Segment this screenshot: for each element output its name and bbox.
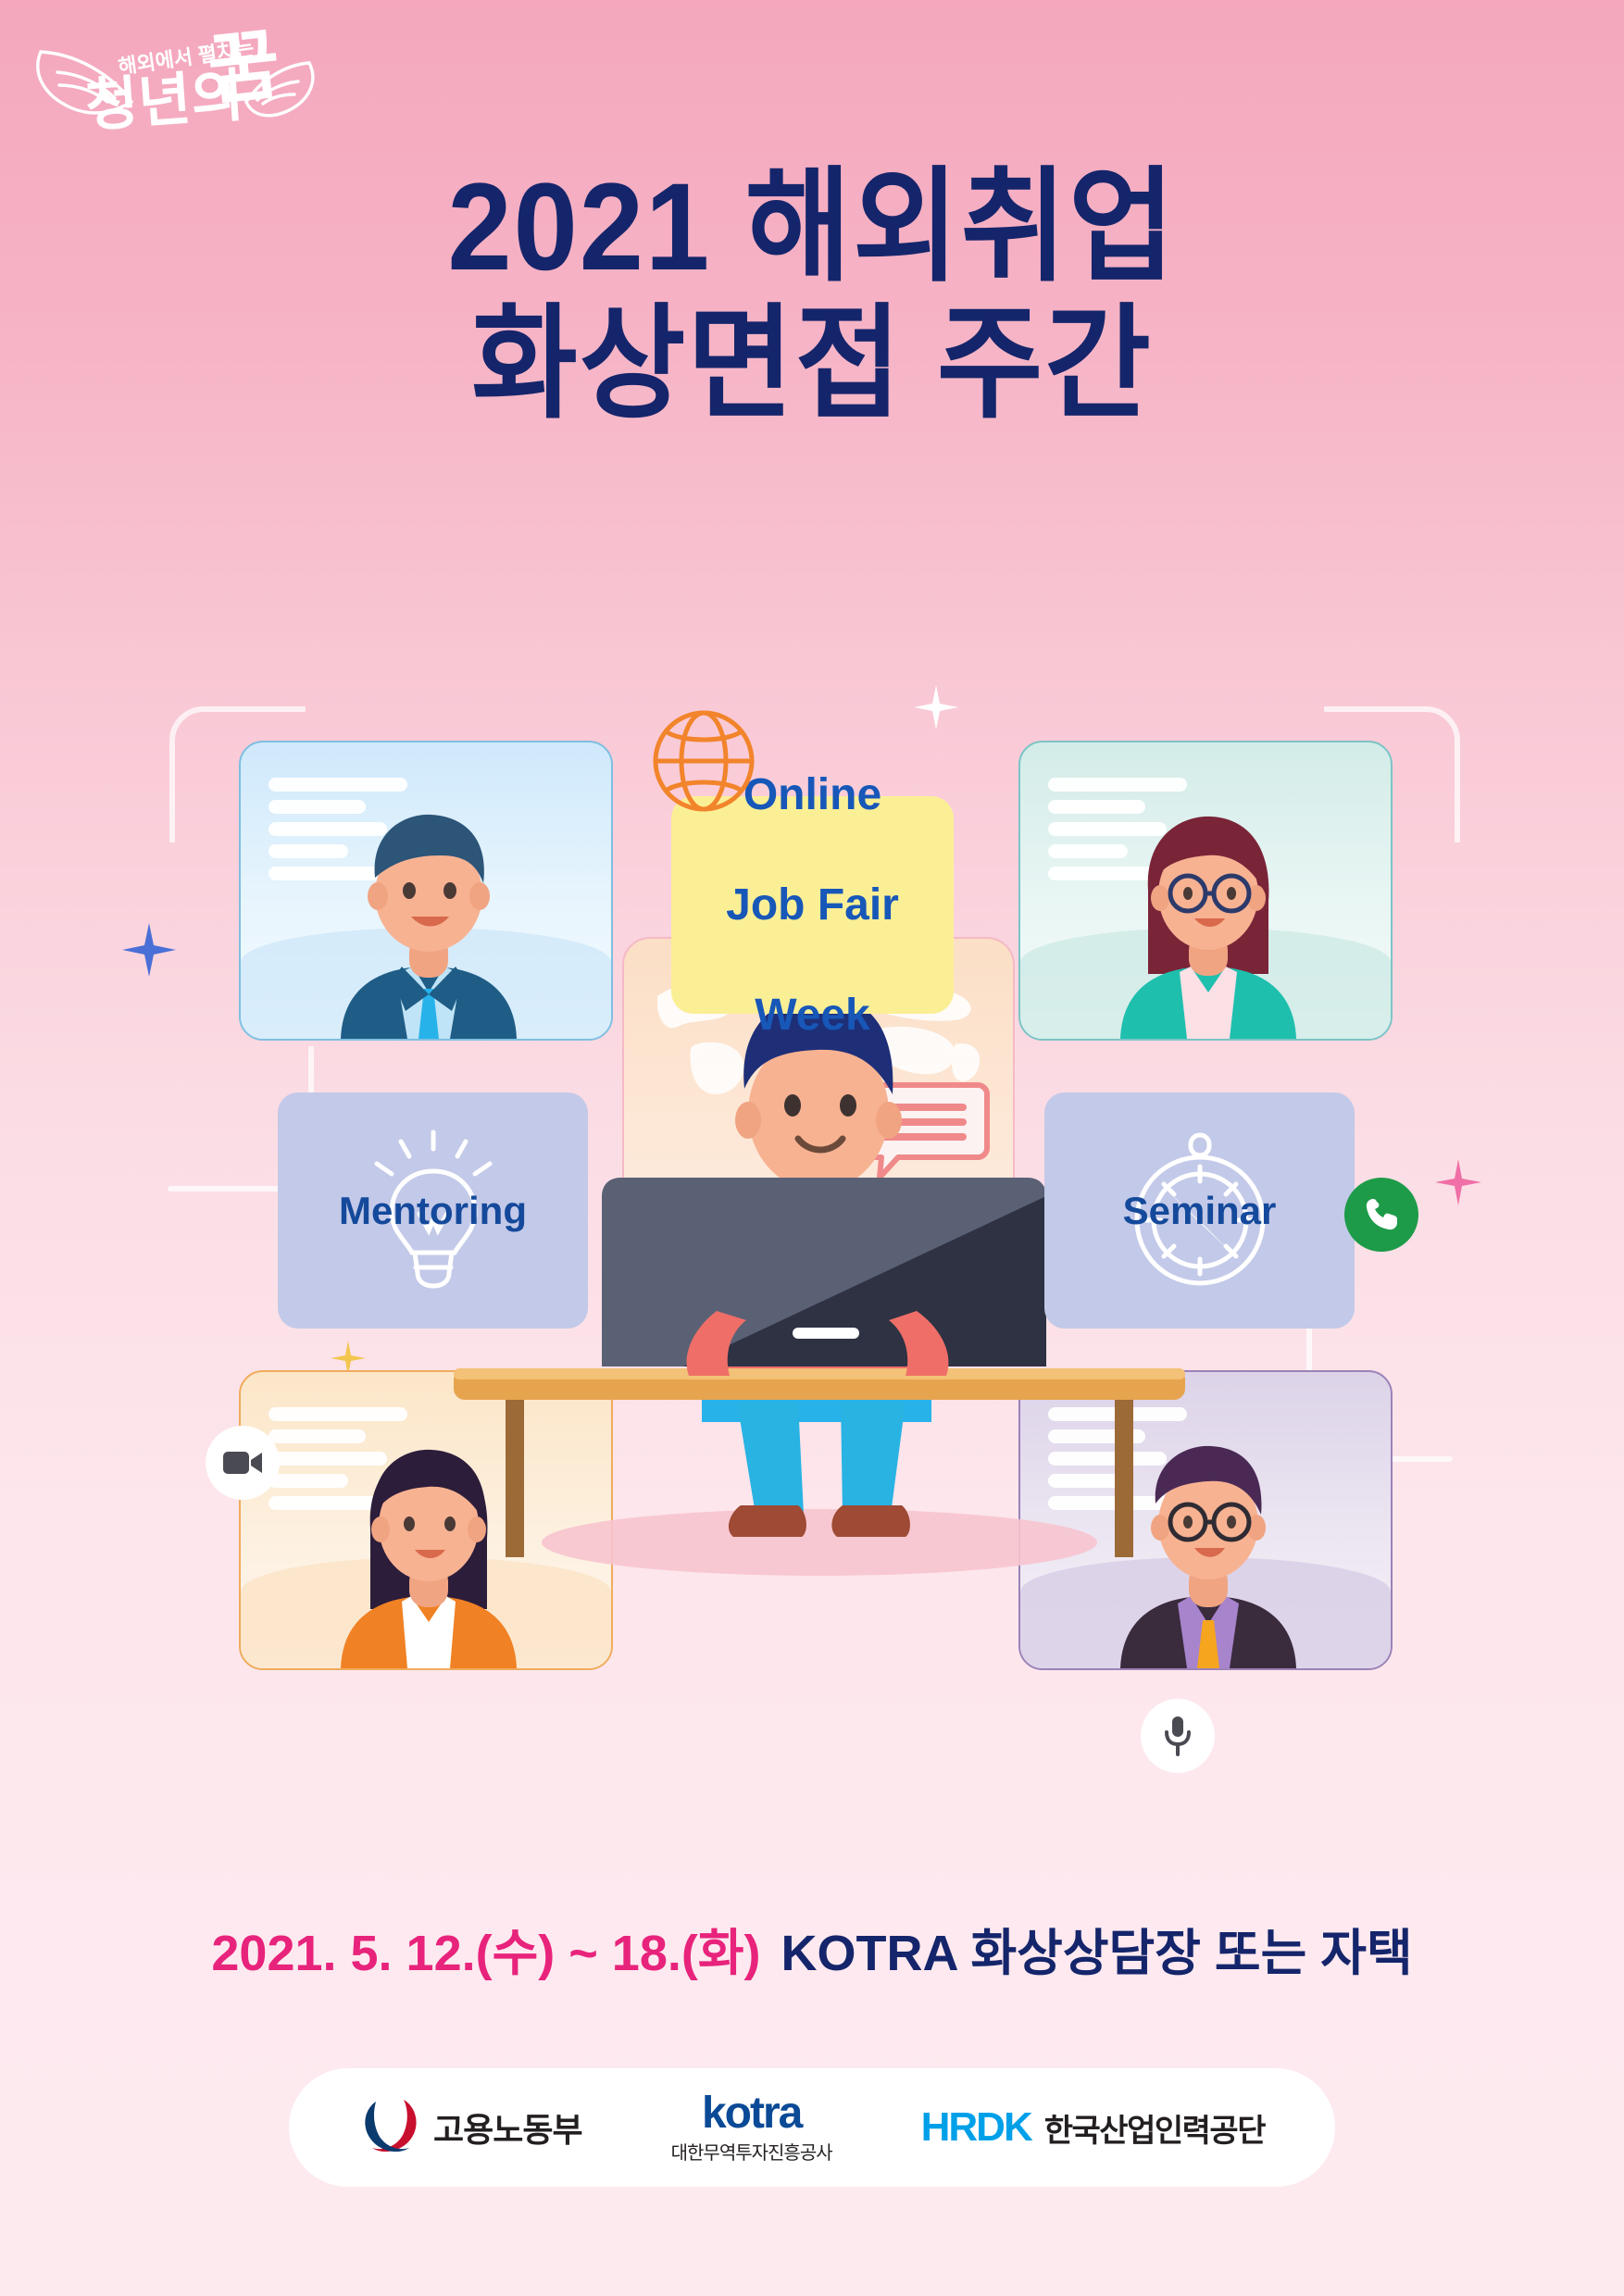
- online-job-fair-label: Online Job Fair Week: [671, 796, 954, 1014]
- event-info-line: 2021. 5. 12.(수) ~ 18.(화)KOTRA 화상상담장 또는 자…: [0, 1912, 1624, 1985]
- video-camera-icon: [221, 1448, 264, 1478]
- poster-root: 해외에서 펼치는 꿈 청년의 해외에서 펼치는 청년의 꿈 2021 해외취업 …: [0, 0, 1624, 2296]
- microphone-icon: [1162, 1714, 1193, 1758]
- globe-icon: [648, 705, 759, 817]
- brand-name: 청년의: [83, 64, 246, 139]
- feature-label-seminar: Seminar: [1044, 1189, 1355, 1233]
- logo-hrdk-label: 한국산업인력공단: [1044, 2105, 1265, 2151]
- logo-kotra: kotra 대한무역투자진흥공사: [671, 2091, 832, 2165]
- sparkle-icon-left: [120, 921, 178, 979]
- feature-card-seminar[interactable]: Seminar: [1044, 1092, 1355, 1329]
- ojf-line-3: Week: [726, 988, 899, 1043]
- logo-molab-label: 고용노동부: [433, 2103, 582, 2152]
- title-line-2: 화상면접 주간: [56, 299, 1567, 430]
- taegeuk-icon: [359, 2094, 420, 2161]
- logo-hrdk-mark: HRDK: [921, 2104, 1031, 2151]
- ojf-line-2: Job Fair: [726, 878, 899, 933]
- illustration-stage: Online Job Fair Week: [0, 667, 1624, 1833]
- video-badge[interactable]: [206, 1426, 280, 1500]
- phone-badge[interactable]: [1344, 1178, 1418, 1252]
- phone-icon: [1361, 1194, 1402, 1235]
- poster-title: 2021 해외취업 화상면접 주간: [0, 162, 1624, 430]
- sparkle-icon-top: [912, 683, 960, 731]
- logo-hrdk: HRDK 한국산업인력공단: [921, 2104, 1265, 2151]
- logo-kotra-name: kotra: [702, 2091, 801, 2136]
- feature-card-mentoring[interactable]: Mentoring: [278, 1092, 588, 1329]
- brand-mark: 해외에서 펼치는 꿈 청년의 해외에서 펼치는 청년의 꿈: [20, 17, 326, 151]
- sponsor-logo-bar: 고용노동부 kotra 대한무역투자진흥공사 HRDK 한국산업인력공단: [289, 2068, 1335, 2187]
- feature-label-mentoring: Mentoring: [278, 1189, 588, 1233]
- event-venue: KOTRA 화상상담장 또는 자택: [781, 1926, 1413, 1981]
- sparkle-icon-right: [1433, 1157, 1483, 1207]
- title-line-1: 2021 해외취업: [56, 162, 1567, 293]
- microphone-badge[interactable]: [1141, 1699, 1215, 1773]
- event-date: 2021. 5. 12.(수) ~ 18.(화): [211, 1926, 760, 1981]
- logo-ministry-of-employment-and-labor: 고용노동부: [359, 2094, 582, 2161]
- logo-kotra-subtitle: 대한무역투자진흥공사: [671, 2138, 832, 2165]
- svg-text:청년의: 청년의: [83, 64, 246, 139]
